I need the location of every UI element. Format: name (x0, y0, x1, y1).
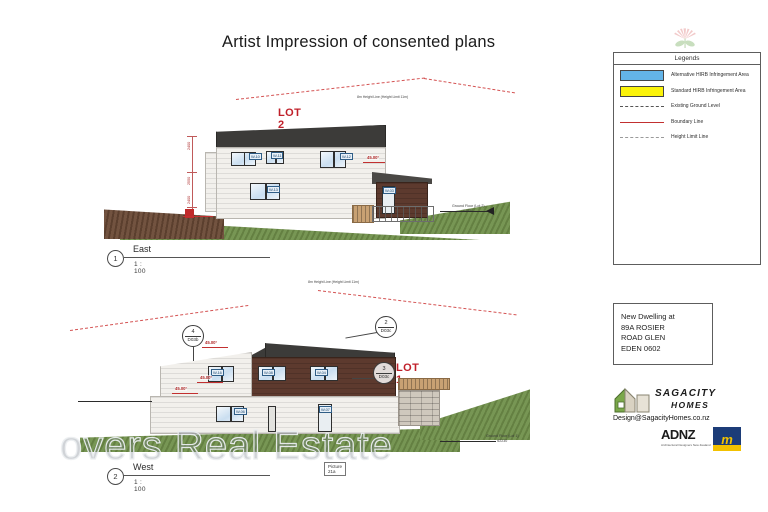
height-limit-line-west-right (318, 290, 517, 315)
brand-email: Design@SagacityHomes.co.nz (613, 415, 710, 422)
adnz-mark-icon: m (713, 427, 741, 451)
dimension-value-east-3: 2400 (186, 196, 191, 204)
angle-tag-west-3: 45.00° (175, 386, 187, 391)
legend-item-boundary-line: Boundary Line (620, 117, 754, 128)
dimension-tick-east-mid (187, 172, 197, 173)
address-panel: New Dwelling at 89A ROSIER ROAD GLEN EDE… (613, 303, 713, 365)
callout-leader-west-2 (345, 332, 377, 339)
address-line-2: 89A ROSIER (621, 323, 712, 334)
callout-number: 4 (182, 329, 204, 335)
angle-rule-west-3 (172, 393, 198, 394)
legend-line-dashed (620, 106, 664, 107)
window-tag-west-3: W-04 (315, 369, 328, 376)
dimension-value-east-1: 2400 (186, 142, 191, 150)
address-line-3: ROAD GLEN (621, 333, 712, 344)
legend-label: Standard HIRB Infringement Area (671, 88, 746, 95)
legend-swatch-blue (620, 70, 664, 81)
callout-sheet: D03b (182, 337, 204, 342)
lot-label-east: LOT 2 (278, 107, 301, 131)
legend-label: Boundary Line (671, 119, 703, 126)
ground-floor-note-east: Ground Floor (Lot 2) 64650 (452, 204, 485, 214)
legend-items: Alternative HIRB Infringement Area Stand… (614, 65, 760, 143)
window-tag-west-5: W-07 (319, 406, 332, 413)
deck-east (352, 205, 374, 223)
window-tag-east-4: W-13 (267, 186, 280, 193)
legend-item-existing-ground-level: Existing Ground Level (620, 101, 754, 112)
legend-line-red (620, 122, 664, 123)
balustrade-east (372, 206, 434, 222)
height-line-label-east: 8m Height Line (Height Limit 11m) (357, 95, 408, 99)
angle-rule-east (363, 162, 385, 163)
sagacity-house-logo-icon (613, 385, 653, 415)
ground-floor-note-west-line1: Ground Floor (Lot 1) (486, 434, 519, 438)
angle-rule-west-1 (202, 347, 228, 348)
legend-item-standard-hirb: Standard HIRB Infringement Area (620, 86, 754, 97)
sun-logo-icon (668, 27, 702, 49)
window-tag-east-2: W-11 (271, 152, 283, 159)
window-tag-east-1: W-10 (249, 153, 262, 160)
legend-label: Existing Ground Level (671, 103, 720, 110)
angle-tag-east: 45.00° (367, 155, 379, 160)
callout-leader-west-3 (352, 378, 374, 379)
ground-floor-note-west-line2: 62230 (497, 439, 507, 443)
window-tag-west-1: W-16 (211, 369, 224, 376)
dimension-tick-east-bot (187, 207, 197, 208)
adnz-logo-text: ADNZ Architectural Designers New Zealand (661, 429, 711, 451)
ground-floor-leader-east (440, 211, 488, 212)
window-tag-east-3: W-12 (340, 153, 353, 160)
picture-tag-west: Picture 21a (324, 462, 346, 476)
height-line-label-west: 8m Height Line (Height Limit 11m) (308, 280, 359, 284)
callout-west-1[interactable]: 4 D03b (182, 325, 204, 347)
angle-tag-west-2: 45.00° (200, 375, 212, 380)
dimension-line-east (192, 136, 193, 216)
legend-item-height-limit-line: Height Limit Line (620, 132, 754, 143)
callout-number: 3 (373, 366, 395, 372)
boundary-line-east (183, 216, 213, 217)
wall-left-sliver-east (205, 152, 217, 212)
ground-floor-arrow-east (486, 207, 494, 215)
ground-floor-note-west: Ground Floor (Lot 1) 62230 (486, 434, 519, 444)
window-tag-east-5: W-03 (383, 187, 396, 194)
view-number-east: 1 (107, 250, 124, 267)
callout-sheet: D03c (373, 374, 395, 379)
legend-label: Height Limit Line (671, 134, 708, 141)
callout-west-3[interactable]: 3 D03c (373, 362, 395, 384)
legend-line-dashed-grey (620, 137, 664, 138)
address-line-1: New Dwelling at (621, 312, 712, 323)
angle-tag-west-1: 45.00° (205, 340, 217, 345)
callout-sheet: D03c (375, 328, 397, 333)
callout-leader-west-1 (193, 347, 194, 361)
dimension-value-east-2: 2550 (186, 177, 191, 185)
ground-floor-note-east-line1: Ground Floor (Lot 2) (452, 204, 485, 208)
window-tag-west-2: W-08 (262, 369, 275, 376)
legend-swatch-yellow (620, 86, 664, 97)
address-line-4: EDEN 0602 (621, 344, 712, 355)
legend-title: Legends (614, 53, 760, 65)
view-scale-east: 1 : 100 (134, 261, 146, 275)
legend-label: Alternative HIRB Infringement Area (671, 72, 749, 79)
callout-number: 2 (375, 320, 397, 326)
roof-east (216, 125, 386, 149)
ground-floor-leader-west (440, 441, 496, 442)
angle-rule-west-2 (197, 382, 223, 383)
legend-panel: Legends Alternative HIRB Infringement Ar… (613, 52, 761, 265)
view-name-east: East (133, 244, 151, 254)
window-tag-west-4: W-06 (234, 408, 247, 415)
brand-subname: HOMES (671, 400, 709, 410)
view-number-west: 2 (107, 468, 124, 485)
view-name-west: West (133, 462, 153, 472)
height-limit-line-east-right (424, 78, 515, 93)
view-scale-west: 1 : 100 (134, 479, 146, 493)
legend-item-alternative-hirb: Alternative HIRB Infringement Area (620, 70, 754, 81)
height-limit-line-west-left (70, 305, 248, 331)
adnz-m-glyph: m (716, 430, 738, 448)
callout-west-2[interactable]: 2 D03c (375, 316, 397, 338)
pergola-west (398, 378, 450, 390)
datum-line-west (78, 401, 152, 402)
block-base-west (398, 390, 440, 426)
dimension-tick-east-top (187, 136, 197, 137)
view-underline-west (124, 475, 270, 476)
page-title: Artist Impression of consented plans (222, 33, 495, 52)
drawing-sheet: Artist Impression of consented plans 8m … (0, 0, 768, 512)
view-underline-east (124, 257, 270, 258)
adnz-sublabel: Architectural Designers New Zealand (661, 440, 711, 451)
door-west-2 (268, 406, 276, 432)
brand-name: SAGACITY (655, 388, 716, 399)
